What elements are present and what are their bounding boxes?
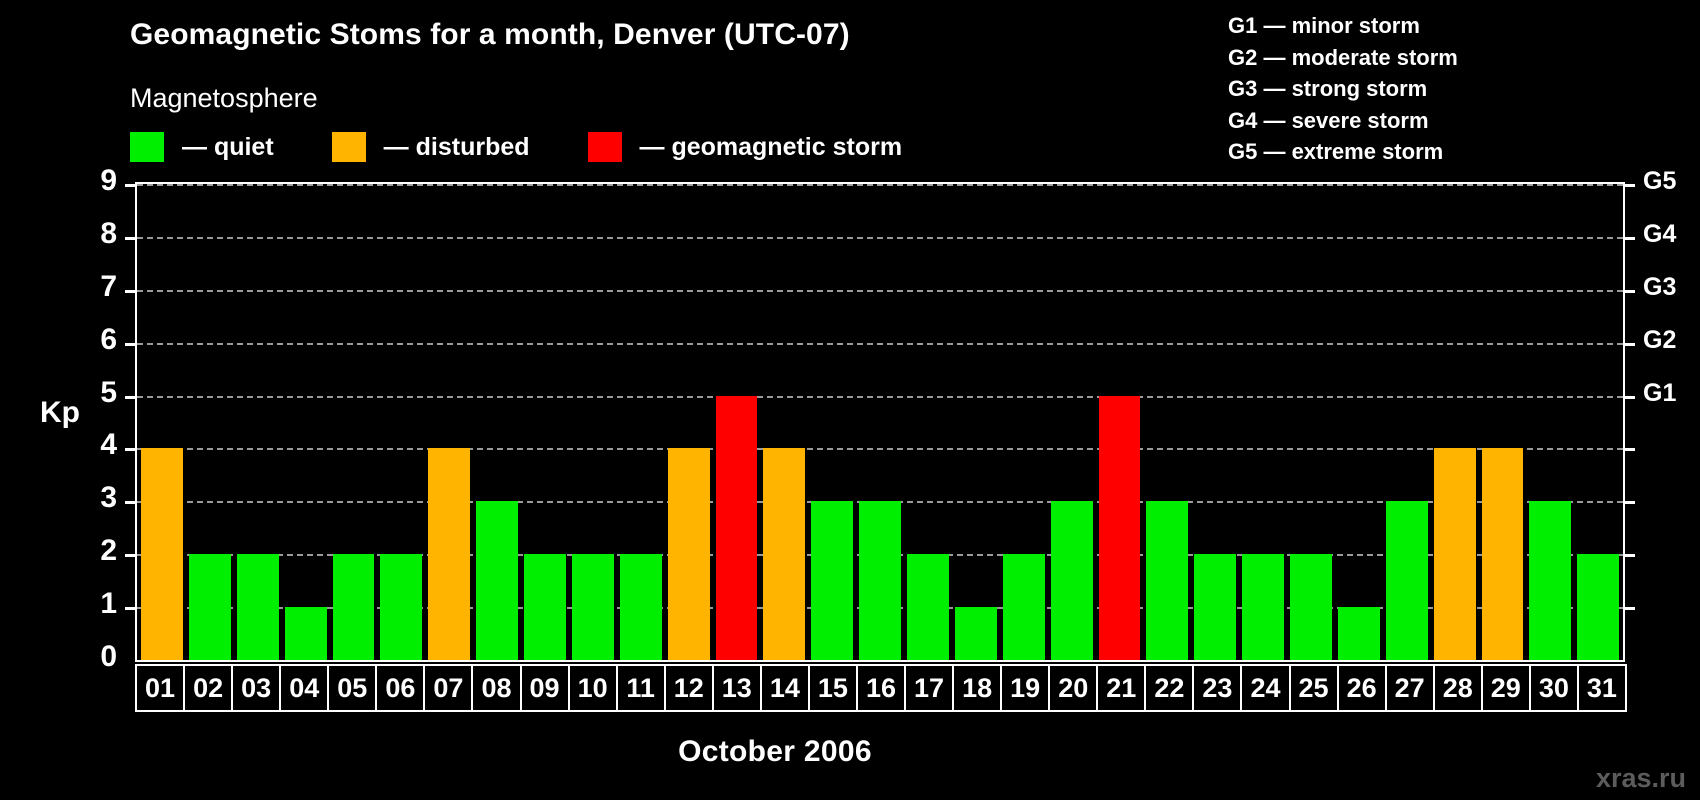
bar-day-29[interactable] [1482,448,1524,660]
bar-cell[interactable] [808,184,856,660]
day-label-01[interactable]: 01 [135,664,185,712]
day-label-06[interactable]: 06 [375,664,425,712]
bar-day-10[interactable] [572,554,614,660]
day-label-05[interactable]: 05 [327,664,377,712]
day-label-03[interactable]: 03 [231,664,281,712]
bar-cell[interactable] [1096,184,1144,660]
day-label-30[interactable]: 30 [1529,664,1579,712]
day-label-12[interactable]: 12 [664,664,714,712]
y-tick-mark-5 [125,396,137,399]
bar-cell[interactable] [1574,184,1622,660]
bar-day-05[interactable] [333,554,375,660]
day-label-23[interactable]: 23 [1192,664,1242,712]
bar-day-02[interactable] [189,554,231,660]
g-tick-mark-4 [1623,448,1635,451]
g-scale-line-1: G1 — minor storm [1228,10,1458,42]
day-label-08[interactable]: 08 [471,664,521,712]
y-tick-mark-4 [125,448,137,451]
bar-cell[interactable] [234,184,282,660]
day-label-15[interactable]: 15 [808,664,858,712]
day-label-14[interactable]: 14 [760,664,810,712]
g-tick-mark-8 [1623,237,1635,240]
bar-series [137,184,1623,660]
y-tick-label-4: 4 [57,428,117,462]
g-tick-label-G2: G2 [1643,326,1700,355]
bar-day-22[interactable] [1146,501,1188,660]
y-tick-mark-1 [125,607,137,610]
legend-item-storm: — geomagnetic storm [588,132,903,162]
g-scale-line-3: G3 — strong storm [1228,73,1458,105]
bar-day-25[interactable] [1290,554,1332,660]
y-tick-mark-2 [125,554,137,557]
bar-cell[interactable] [1526,184,1574,660]
page-title: Geomagnetic Stoms for a month, Denver (U… [130,18,850,52]
bar-cell[interactable] [521,184,569,660]
day-label-17[interactable]: 17 [904,664,954,712]
legend-swatch-storm [588,132,622,162]
y-tick-mark-3 [125,501,137,504]
day-label-20[interactable]: 20 [1048,664,1098,712]
g-tick-mark-3 [1623,501,1635,504]
bar-day-21[interactable] [1099,396,1141,660]
legend: — quiet— disturbed— geomagnetic storm [130,131,960,163]
y-tick-mark-9 [125,184,137,187]
day-label-22[interactable]: 22 [1144,664,1194,712]
g-tick-label-G5: G5 [1643,167,1700,196]
y-tick-label-7: 7 [57,270,117,304]
bar-day-09[interactable] [524,554,566,660]
bar-cell[interactable] [856,184,904,660]
g-scale-line-4: G4 — severe storm [1228,105,1458,137]
y-tick-label-6: 6 [57,323,117,357]
day-label-28[interactable]: 28 [1433,664,1483,712]
day-label-21[interactable]: 21 [1096,664,1146,712]
y-tick-mark-7 [125,290,137,293]
legend-label-storm: — geomagnetic storm [640,133,903,162]
bar-cell[interactable] [1000,184,1048,660]
bar-day-03[interactable] [237,554,279,660]
bar-day-16[interactable] [859,501,901,660]
bar-cell[interactable] [1048,184,1096,660]
bar-cell[interactable] [1239,184,1287,660]
g-scale-line-2: G2 — moderate storm [1228,42,1458,74]
y-tick-label-9: 9 [57,164,117,198]
day-label-19[interactable]: 19 [1000,664,1050,712]
day-label-18[interactable]: 18 [952,664,1002,712]
g-tick-mark-1 [1623,607,1635,610]
y-tick-label-2: 2 [57,534,117,568]
legend-item-quiet: — quiet [130,132,274,162]
bar-day-12[interactable] [668,448,710,660]
legend-item-disturbed: — disturbed [332,132,530,162]
plot-area [135,182,1625,662]
day-label-04[interactable]: 04 [279,664,329,712]
y-tick-mark-8 [125,237,137,240]
x-axis-title-text: October 2006 [678,735,872,769]
bar-day-08[interactable] [476,501,518,660]
bar-cell[interactable] [1143,184,1191,660]
y-tick-label-8: 8 [57,217,117,251]
day-label-13[interactable]: 13 [712,664,762,712]
bar-cell[interactable] [760,184,808,660]
bar-day-31[interactable] [1577,554,1619,660]
legend-swatch-quiet [130,132,164,162]
bar-cell[interactable] [904,184,952,660]
legend-label-quiet: — quiet [182,133,274,162]
bar-cell[interactable] [1431,184,1479,660]
bar-cell[interactable] [425,184,473,660]
bar-day-17[interactable] [907,554,949,660]
g-tick-label-G3: G3 [1643,273,1700,302]
bar-day-28[interactable] [1434,448,1476,660]
x-axis-day-labels: 0102030405060708091011121314151617181920… [135,664,1625,712]
bar-day-23[interactable] [1194,554,1236,660]
y-tick-label-5: 5 [57,376,117,410]
day-label-07[interactable]: 07 [423,664,473,712]
bar-day-26[interactable] [1338,607,1380,660]
bar-day-14[interactable] [763,448,805,660]
bar-day-07[interactable] [428,448,470,660]
bar-cell[interactable] [1479,184,1527,660]
bar-cell[interactable] [617,184,665,660]
y-tick-mark-6 [125,343,137,346]
bar-day-20[interactable] [1051,501,1093,660]
bar-cell[interactable] [952,184,1000,660]
x-axis-title: October 2006 [0,735,1700,769]
watermark: xras.ru [1596,763,1686,794]
bar-day-06[interactable] [380,554,422,660]
day-label-24[interactable]: 24 [1240,664,1290,712]
day-label-25[interactable]: 25 [1289,664,1339,712]
bar-day-01[interactable] [141,448,183,660]
bar-day-27[interactable] [1386,501,1428,660]
g-tick-mark-2 [1623,554,1635,557]
day-label-09[interactable]: 09 [520,664,570,712]
g-tick-label-G4: G4 [1643,220,1700,249]
day-label-27[interactable]: 27 [1385,664,1435,712]
bar-cell[interactable] [569,184,617,660]
bar-cell[interactable] [330,184,378,660]
bar-cell[interactable] [713,184,761,660]
bar-cell[interactable] [1383,184,1431,660]
bar-day-11[interactable] [620,554,662,660]
g-tick-label-G1: G1 [1643,379,1700,408]
bar-cell[interactable] [1191,184,1239,660]
bar-day-04[interactable] [285,607,327,660]
day-label-16[interactable]: 16 [856,664,906,712]
legend-label-disturbed: — disturbed [384,133,530,162]
day-label-29[interactable]: 29 [1481,664,1531,712]
bar-cell[interactable] [282,184,330,660]
day-label-02[interactable]: 02 [183,664,233,712]
bar-day-18[interactable] [955,607,997,660]
bar-cell[interactable] [138,184,186,660]
bar-cell[interactable] [473,184,521,660]
day-label-26[interactable]: 26 [1337,664,1387,712]
chart-canvas: Geomagnetic Stoms for a month, Denver (U… [0,0,1700,800]
y-tick-label-0: 0 [57,640,117,674]
g-tick-mark-5 [1623,396,1635,399]
bar-cell[interactable] [1335,184,1383,660]
bar-day-19[interactable] [1003,554,1045,660]
day-label-11[interactable]: 11 [616,664,666,712]
day-label-31[interactable]: 31 [1577,664,1627,712]
bar-cell[interactable] [186,184,234,660]
bar-cell[interactable] [1287,184,1335,660]
legend-heading: Magnetosphere [130,83,318,114]
g-tick-mark-6 [1623,343,1635,346]
g-tick-mark-7 [1623,290,1635,293]
bar-day-30[interactable] [1529,501,1571,660]
day-label-10[interactable]: 10 [568,664,618,712]
g-scale-legend: G1 — minor stormG2 — moderate stormG3 — … [1228,10,1458,168]
bar-day-15[interactable] [811,501,853,660]
bar-day-24[interactable] [1242,554,1284,660]
legend-swatch-disturbed [332,132,366,162]
y-tick-label-1: 1 [57,587,117,621]
bar-cell[interactable] [665,184,713,660]
plot-inner [137,184,1623,660]
bar-day-13[interactable] [716,396,758,660]
y-tick-label-3: 3 [57,481,117,515]
g-tick-mark-9 [1623,184,1635,187]
bar-cell[interactable] [377,184,425,660]
g-scale-line-5: G5 — extreme storm [1228,136,1458,168]
